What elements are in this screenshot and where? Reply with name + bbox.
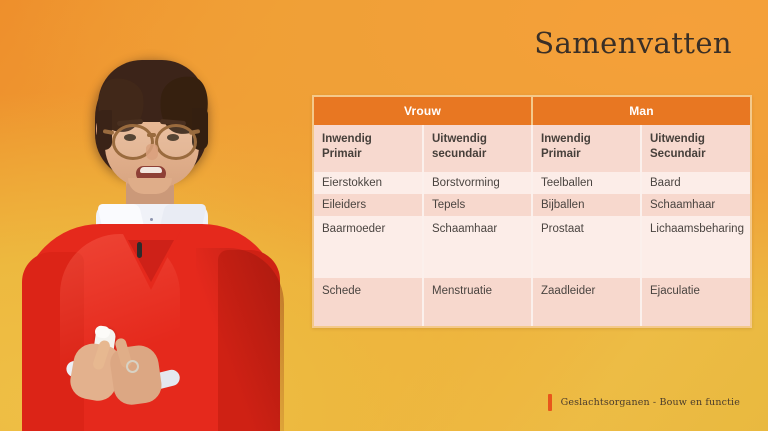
subheader-line-1: Uitwendig bbox=[432, 133, 487, 145]
table-cell: Borstvorming bbox=[423, 172, 532, 194]
table-cell: Tepels bbox=[423, 194, 532, 216]
table-row: Eileiders Tepels Bijballen Schaamhaar bbox=[314, 194, 750, 216]
table-cell: Baarmoeder bbox=[314, 216, 423, 264]
table-row: Eierstokken Borstvorming Teelballen Baar… bbox=[314, 172, 750, 194]
table-cell: Zaadleider bbox=[532, 278, 641, 326]
footer-accent-bar bbox=[548, 394, 552, 411]
subheader-man-uitwendig: Uitwendig Secundair bbox=[641, 125, 750, 172]
finger-ring-shape bbox=[126, 360, 139, 373]
table-subheader-row: Inwendig Primair Uitwendig secundair Inw… bbox=[314, 125, 750, 172]
eyeglasses-bridge bbox=[147, 133, 156, 137]
lapel-microphone-icon bbox=[137, 242, 142, 258]
subheader-line-2: Primair bbox=[541, 148, 581, 160]
table-cell: Teelballen bbox=[532, 172, 641, 194]
footer-label: Geslachtsorganen - Bouw en functie bbox=[561, 397, 740, 408]
summary-table-container: Vrouw Man Inwendig Primair Uitwendig sec… bbox=[312, 95, 752, 328]
subheader-line-2: Primair bbox=[322, 148, 362, 160]
table-cell: Menstruatie bbox=[423, 278, 532, 326]
eyeglasses-right-lens bbox=[155, 124, 197, 160]
footer: Geslachtsorganen - Bouw en functie bbox=[548, 394, 740, 411]
table-cell: Schede bbox=[314, 278, 423, 326]
presenter-edge-blend bbox=[258, 28, 306, 431]
page-title: Samenvatten bbox=[534, 26, 732, 60]
slide-canvas: Samenvatten bbox=[0, 0, 768, 431]
table-cell: Schaamhaar bbox=[641, 194, 750, 216]
teeth-shape bbox=[140, 167, 162, 173]
subheader-line-1: Inwendig bbox=[541, 133, 591, 145]
table-cell: Baard bbox=[641, 172, 750, 194]
table-cell bbox=[423, 264, 532, 278]
table-group-header-row: Vrouw Man bbox=[314, 97, 750, 125]
shirt-button-top bbox=[150, 218, 153, 221]
presenter-video bbox=[0, 28, 300, 431]
table-cell bbox=[314, 264, 423, 278]
table-cell: Prostaat bbox=[532, 216, 641, 264]
table-cell: Schaamhaar bbox=[423, 216, 532, 264]
table-cell bbox=[641, 264, 750, 278]
subheader-man-inwendig: Inwendig Primair bbox=[532, 125, 641, 172]
table-cell: Ejaculatie bbox=[641, 278, 750, 326]
table-cell: Eierstokken bbox=[314, 172, 423, 194]
group-header-vrouw: Vrouw bbox=[314, 97, 532, 125]
table-row: Baarmoeder Schaamhaar Prostaat Lichaamsb… bbox=[314, 216, 750, 264]
group-header-man: Man bbox=[532, 97, 750, 125]
table-cell: Bijballen bbox=[532, 194, 641, 216]
subheader-line-1: Inwendig bbox=[322, 133, 372, 145]
table-row-spacer bbox=[314, 264, 750, 278]
table-row: Schede Menstruatie Zaadleider Ejaculatie bbox=[314, 278, 750, 326]
subheader-vrouw-inwendig: Inwendig Primair bbox=[314, 125, 423, 172]
subheader-line-2: Secundair bbox=[650, 148, 706, 160]
nose-shape bbox=[146, 144, 158, 160]
subheader-line-1: Uitwendig bbox=[650, 133, 705, 145]
table-cell: Lichaamsbeharing bbox=[641, 216, 750, 264]
summary-table: Vrouw Man Inwendig Primair Uitwendig sec… bbox=[314, 97, 750, 326]
subheader-vrouw-uitwendig: Uitwendig secundair bbox=[423, 125, 532, 172]
table-cell: Eileiders bbox=[314, 194, 423, 216]
table-cell bbox=[532, 264, 641, 278]
subheader-line-2: secundair bbox=[432, 148, 486, 160]
